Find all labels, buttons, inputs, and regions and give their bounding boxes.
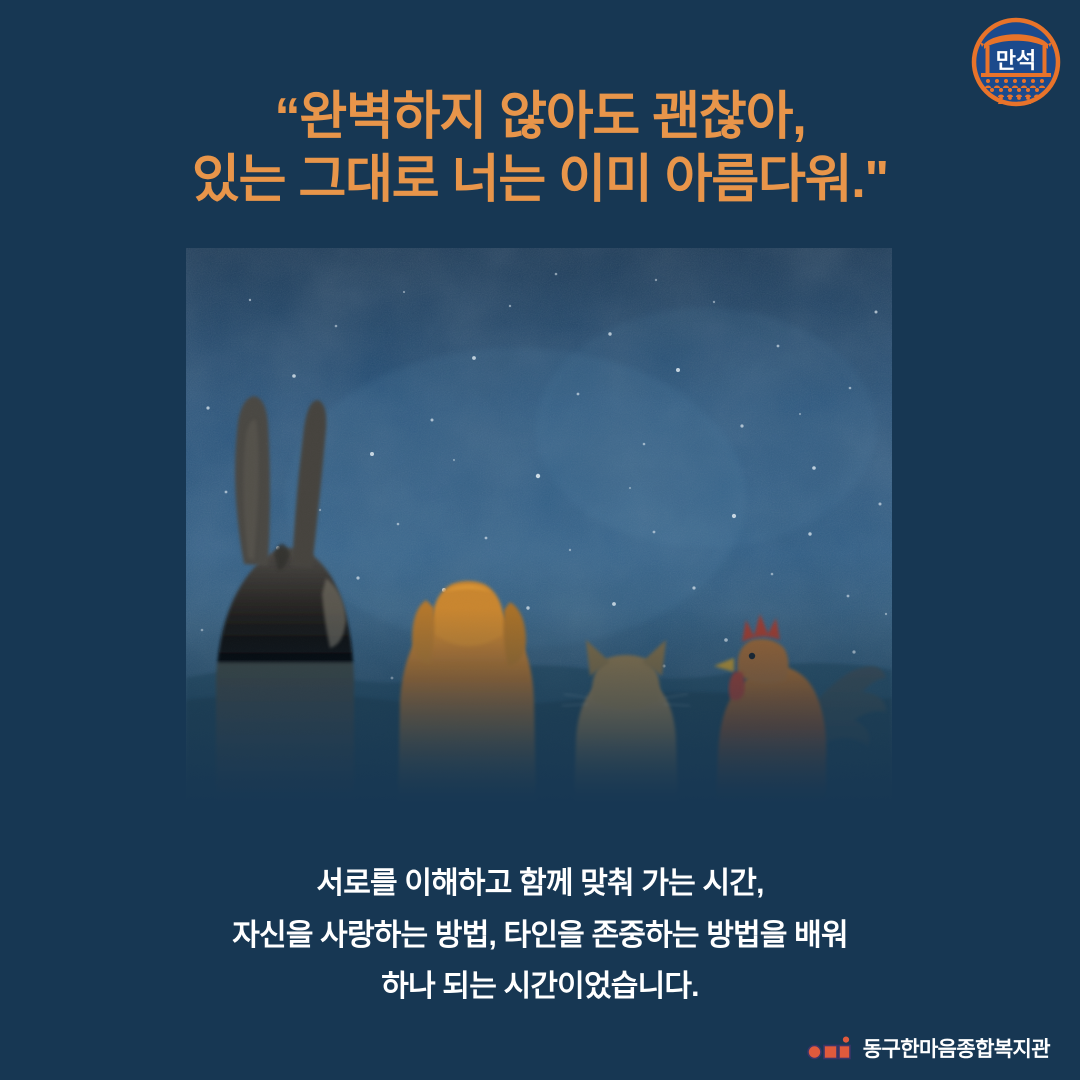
body-paragraph: 서로를 이해하고 함께 맞춰 가는 시간, 자신을 사랑하는 방법, 타인을 존… <box>0 858 1080 1013</box>
illustration-panel <box>186 248 892 804</box>
organization-name: 동구한마음종합복지관 <box>863 1039 1050 1060</box>
footer-branding: 동구한마음종합복지관 <box>806 1036 1050 1062</box>
badge-label: 만석 <box>996 48 1036 73</box>
donggu-hanmaeum-mark-icon <box>806 1036 854 1062</box>
poster-card: 만석 “완벽하지 않아도 괜찮아, 있는 그대로 너는 이미 아름다워." <box>0 0 1080 1080</box>
night-sky-animals-illustration <box>186 248 892 804</box>
headline-quote: “완벽하지 않아도 괜찮아, 있는 그대로 너는 이미 아름다워." <box>0 86 1080 213</box>
